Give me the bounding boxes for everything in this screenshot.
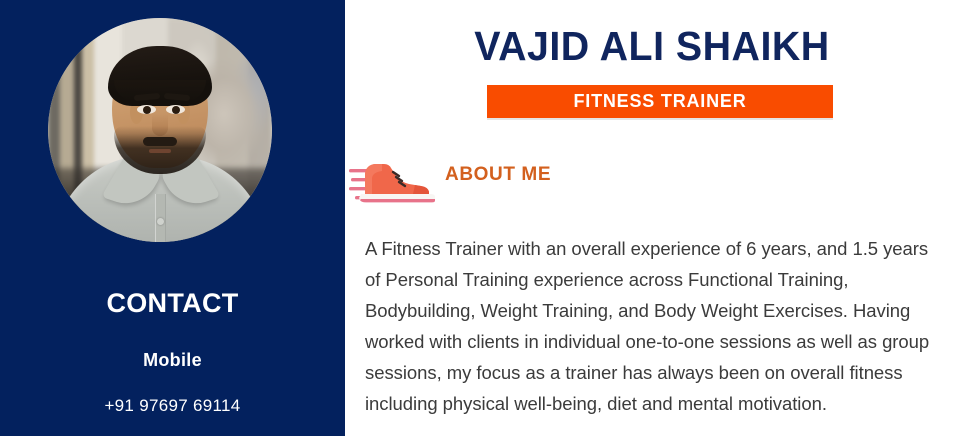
main-panel: VAJID ALI SHAIKH FITNESS TRAINER bbox=[345, 0, 959, 436]
contact-mobile-label: Mobile bbox=[0, 350, 345, 371]
page-title: VAJID ALI SHAIKH bbox=[357, 22, 946, 70]
avatar bbox=[48, 18, 272, 242]
avatar-shirt-button-top bbox=[157, 218, 164, 225]
about-section-text: A Fitness Trainer with an overall experi… bbox=[365, 233, 935, 419]
avatar-eye-left bbox=[137, 105, 156, 114]
about-section-header: ABOUT ME bbox=[345, 150, 959, 206]
resume-card: CONTACT Mobile +91 97697 69114 VAJID ALI… bbox=[0, 0, 959, 436]
running-shoe-icon bbox=[349, 152, 437, 204]
avatar-mouth bbox=[149, 149, 171, 153]
avatar-moustache bbox=[143, 137, 177, 146]
about-section-title: ABOUT ME bbox=[445, 164, 551, 186]
role-badge: FITNESS TRAINER bbox=[487, 85, 833, 118]
role-badge-label: FITNESS TRAINER bbox=[573, 91, 746, 112]
contact-mobile-value[interactable]: +91 97697 69114 bbox=[0, 396, 345, 416]
contact-heading: CONTACT bbox=[0, 288, 345, 319]
avatar-eye-right bbox=[166, 105, 185, 114]
sidebar: CONTACT Mobile +91 97697 69114 bbox=[0, 0, 345, 436]
